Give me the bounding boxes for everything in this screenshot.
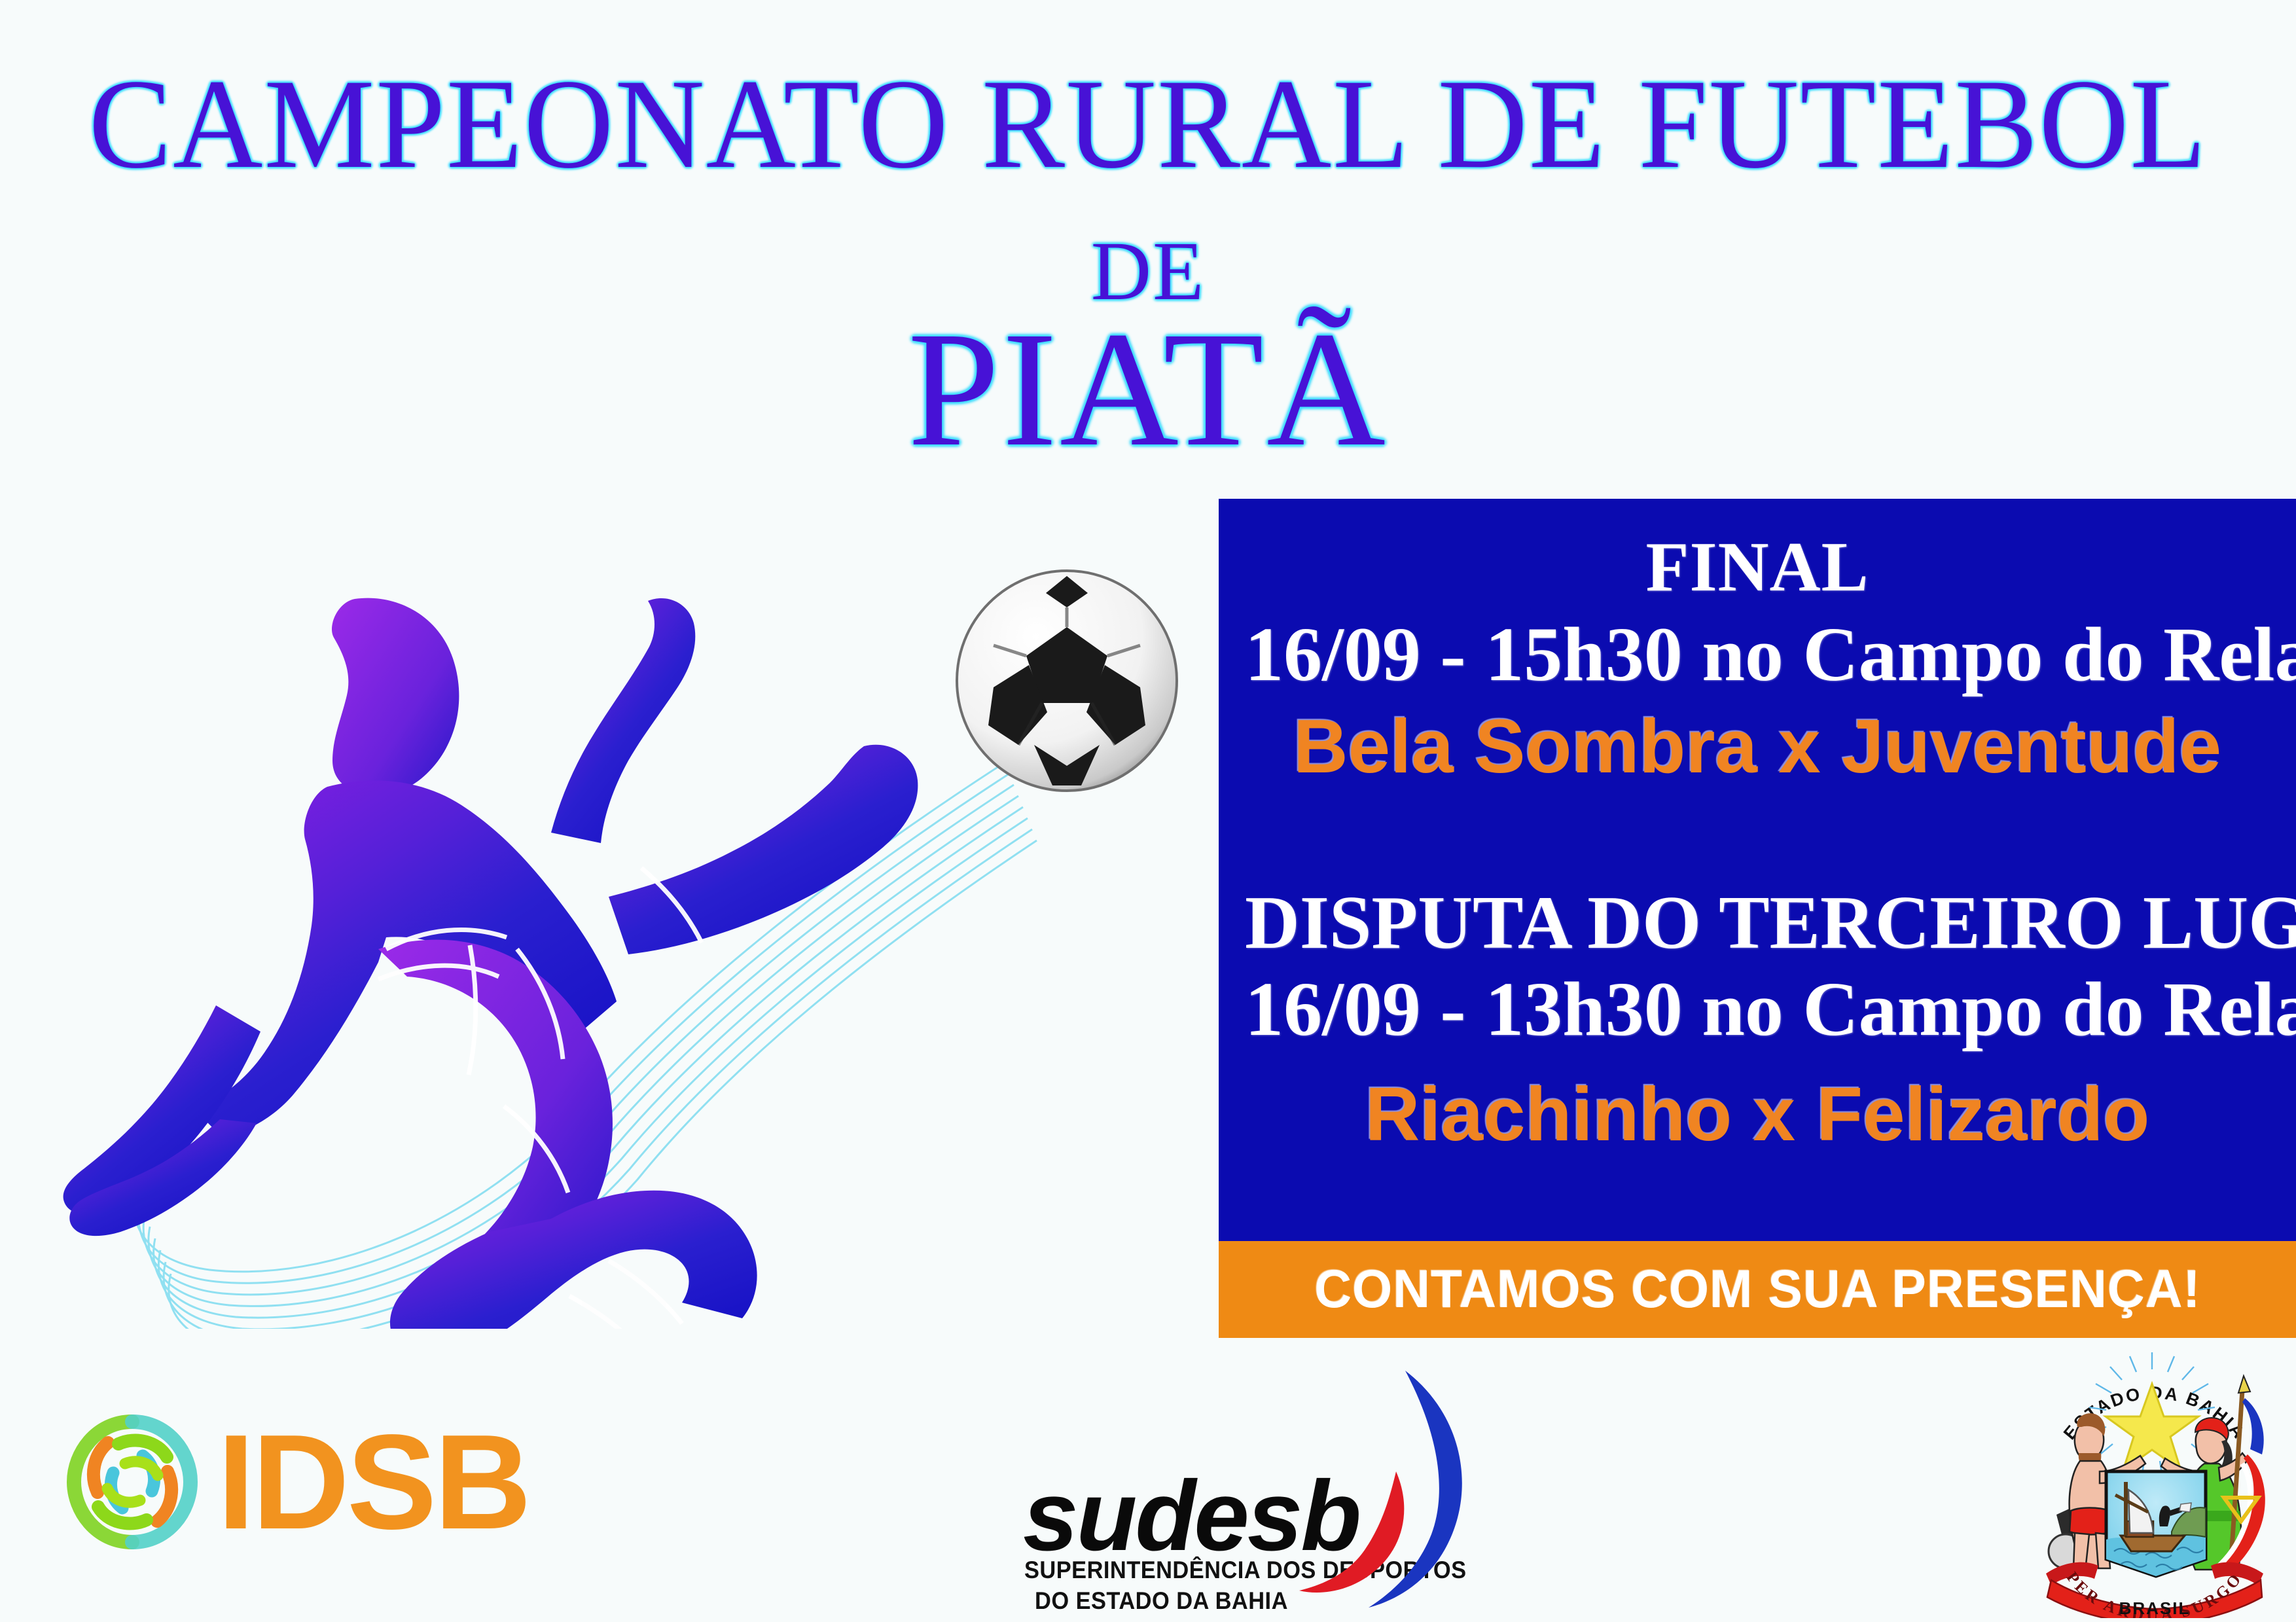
coa-shield	[2106, 1471, 2206, 1576]
sudesb-swoosh-icon	[1234, 1361, 1496, 1617]
player-leg-kicking	[609, 745, 918, 954]
player-leg-support	[390, 1191, 757, 1329]
final-stage-label: FINAL	[1245, 530, 2270, 604]
final-datetime: 16/09 - 15h30 no Campo do Rela	[1245, 614, 2270, 695]
call-to-action-text: CONTAMOS COM SUA PRESENÇA!	[1314, 1259, 2200, 1320]
soccer-player-illustration	[20, 530, 1204, 1329]
bahia-coat-of-arms: ESTADO DA BAHIA	[2017, 1343, 2292, 1618]
sudesb-logo: sudesb SUPERINTENDÊNCIA DOS DESPORTOS DO…	[1018, 1361, 1496, 1617]
footer-logos: IDSB sudesb SUPERINTENDÊNCIA DOS DESPORT…	[0, 1337, 2296, 1622]
idsb-swirl-icon	[62, 1407, 203, 1557]
idsb-logo: IDSB	[62, 1407, 529, 1557]
third-place-stage-label: DISPUTA DO TERCEIRO LUGAR	[1245, 884, 2270, 964]
player-head	[332, 598, 459, 796]
title-line-3: PIATÃ	[0, 302, 2296, 476]
soccer-ball	[957, 571, 1177, 791]
third-place-fixture: Riachinho x Felizardo	[1245, 1075, 2270, 1155]
title-line-1: CAMPEONATO RURAL DE FUTEBOL	[35, 60, 2262, 189]
idsb-wordmark: IDSB	[217, 1415, 529, 1549]
poster-title-block: CAMPEONATO RURAL DE FUTEBOL DE PIATÃ	[0, 0, 2296, 511]
third-place-datetime: 16/09 - 13h30 no Campo do Rela	[1245, 969, 2270, 1050]
player-arm-right	[551, 598, 695, 843]
match-info-panel: FINAL 16/09 - 15h30 no Campo do Rela Bel…	[1219, 499, 2296, 1241]
call-to-action-banner: CONTAMOS COM SUA PRESENÇA!	[1219, 1241, 2296, 1338]
coa-bottom-text: BRASIL	[2119, 1598, 2191, 1618]
final-fixture: Bela Sombra x Juventude	[1245, 707, 2270, 787]
poster-root: CAMPEONATO RURAL DE FUTEBOL DE PIATÃ	[0, 0, 2296, 1622]
